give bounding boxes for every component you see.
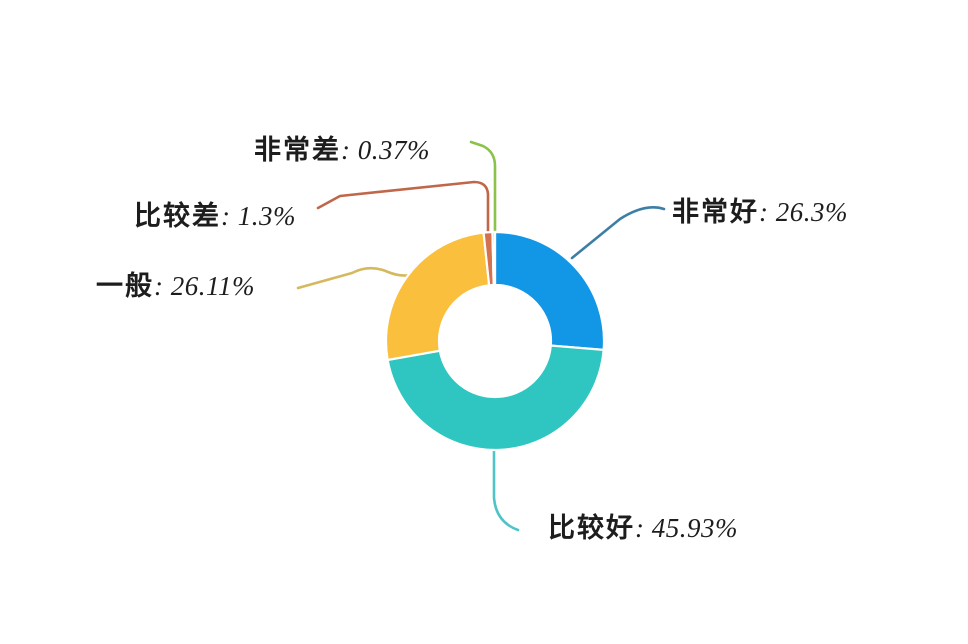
leader-lines — [298, 142, 664, 530]
donut-slice-very-good[interactable] — [495, 232, 604, 350]
donut-chart-svg — [0, 0, 968, 644]
slice-label-very-good-name: 非常好 — [672, 197, 759, 227]
leader-line-fairly-good — [494, 449, 518, 530]
slice-label-average-value: 26.11% — [171, 271, 255, 301]
slice-label-average-sep: : — [154, 271, 171, 301]
slice-label-fairly-good-sep: : — [635, 513, 652, 543]
donut-slice-very-poor[interactable] — [492, 232, 495, 285]
leader-line-fairly-poor — [318, 182, 488, 236]
slice-label-very-poor-value: 0.37% — [358, 135, 430, 165]
leader-line-very-poor — [471, 142, 495, 233]
slice-label-average-name: 一般 — [96, 271, 154, 301]
slice-label-very-poor-sep: : — [341, 135, 358, 165]
slice-label-fairly-good-value: 45.93% — [652, 513, 738, 543]
slice-label-fairly-poor: 比较差: 1.3% — [134, 203, 296, 230]
donut-slice-fairly-good[interactable] — [388, 346, 604, 450]
slice-label-fairly-poor-value: 1.3% — [238, 201, 296, 231]
slice-label-very-good: 非常好: 26.3% — [672, 199, 848, 226]
slice-label-average: 一般: 26.11% — [96, 273, 255, 300]
slice-label-very-poor: 非常差: 0.37% — [254, 137, 430, 164]
slice-label-fairly-poor-name: 比较差 — [134, 201, 221, 231]
slice-label-fairly-good: 比较好: 45.93% — [548, 515, 738, 542]
slice-label-very-good-sep: : — [759, 197, 776, 227]
slice-label-very-poor-name: 非常差 — [254, 135, 341, 165]
leader-line-very-good — [572, 207, 664, 258]
donut-slice-average[interactable] — [386, 233, 489, 360]
slice-label-fairly-good-name: 比较好 — [548, 513, 635, 543]
slice-label-very-good-value: 26.3% — [776, 197, 848, 227]
donut-segments — [386, 232, 604, 450]
slice-label-fairly-poor-sep: : — [221, 201, 238, 231]
donut-chart: 非常好: 26.3% 比较好: 45.93% 一般: 26.11% 比较差: 1… — [0, 0, 968, 644]
